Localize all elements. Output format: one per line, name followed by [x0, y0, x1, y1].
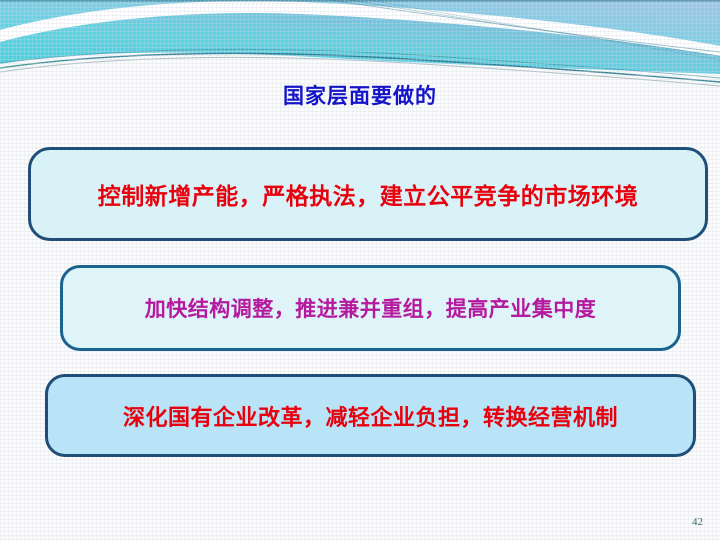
callout-box-1-text: 控制新增产能，严格执法，建立公平竞争的市场环境: [98, 177, 639, 211]
callout-box-3-text: 深化国有企业改革，减轻企业负担，转换经营机制: [123, 400, 618, 432]
callout-box-2-text: 加快结构调整，推进兼并重组，提高产业集中度: [145, 293, 597, 323]
callout-box-3: 深化国有企业改革，减轻企业负担，转换经营机制: [45, 374, 696, 457]
callout-box-1: 控制新增产能，严格执法，建立公平竞争的市场环境: [28, 147, 708, 241]
page-number: 42: [692, 516, 703, 528]
presentation-slide: 国家层面要做的 控制新增产能，严格执法，建立公平竞争的市场环境 加快结构调整，推…: [0, 0, 720, 540]
page-title: 国家层面要做的: [0, 80, 720, 110]
callout-box-2: 加快结构调整，推进兼并重组，提高产业集中度: [60, 265, 681, 351]
